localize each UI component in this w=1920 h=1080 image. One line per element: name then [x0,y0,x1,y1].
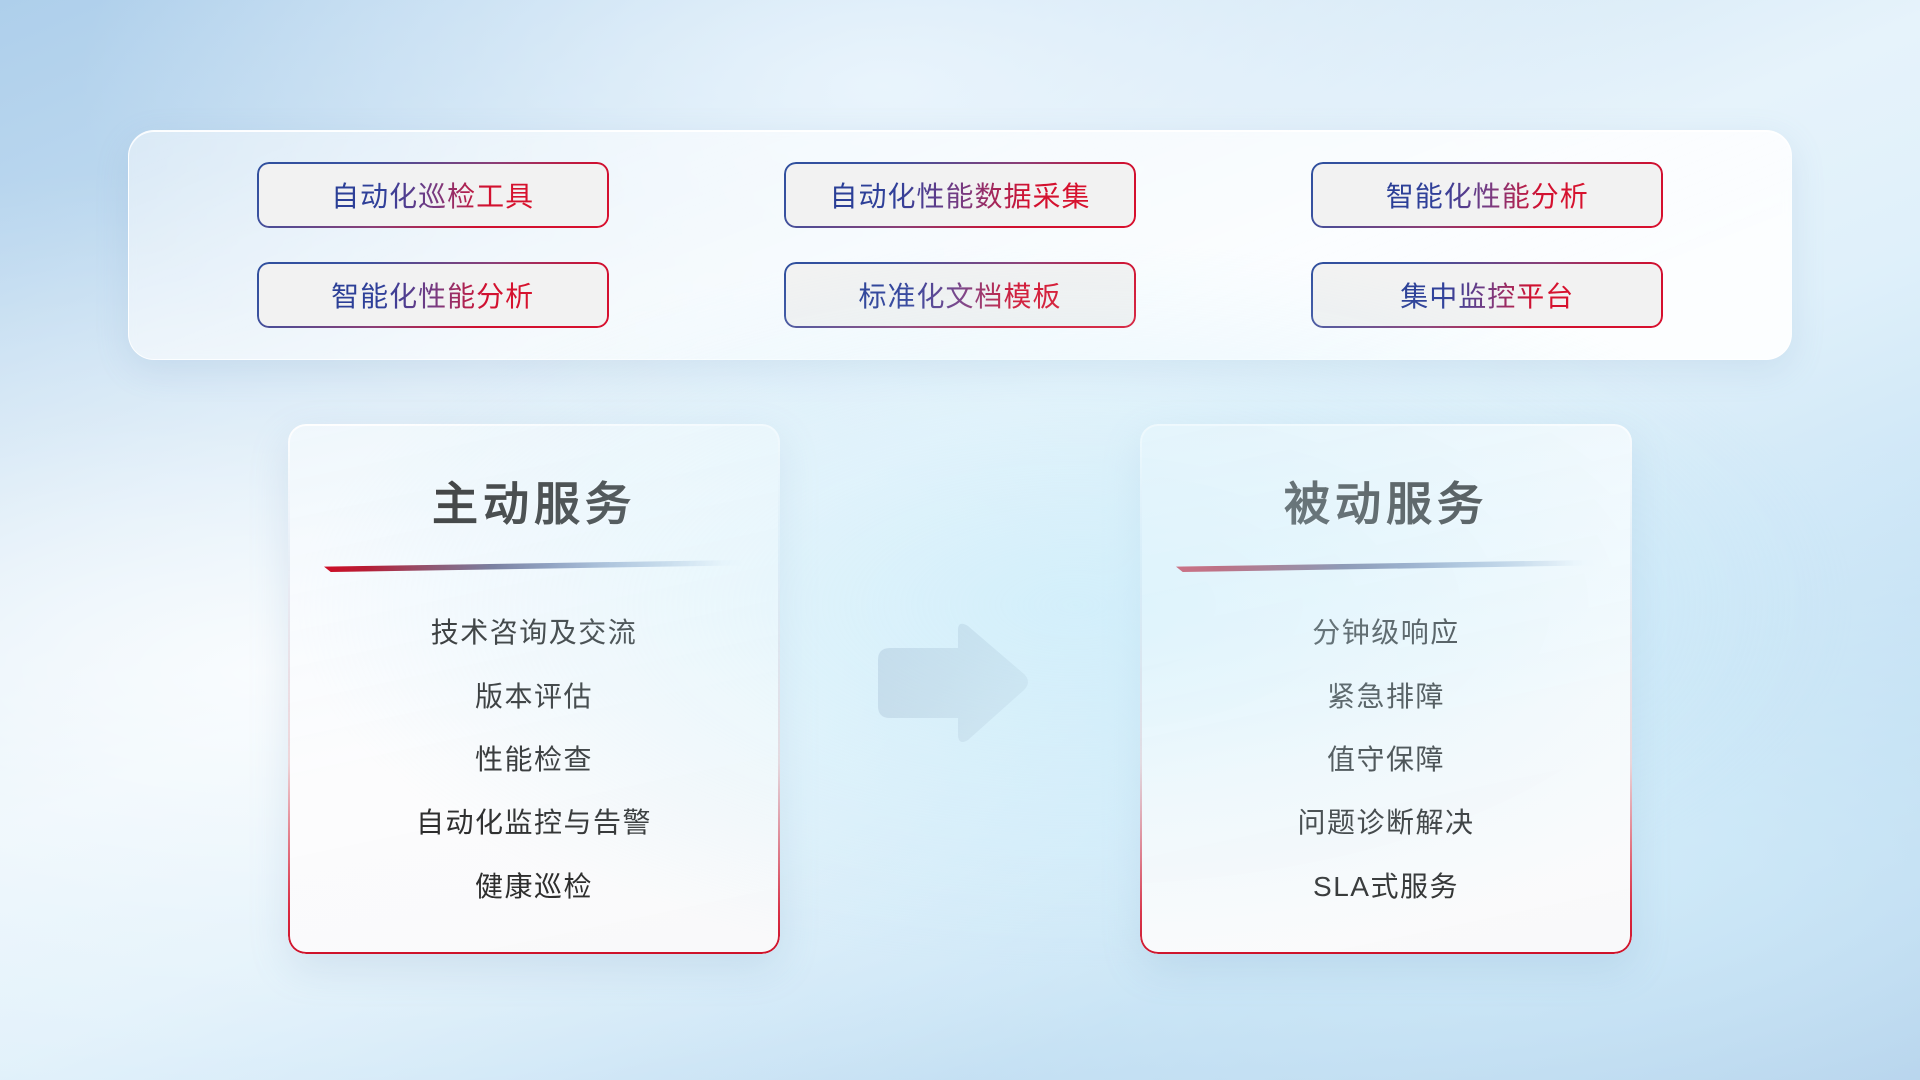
service-card-title: 主动服务 [432,468,636,534]
capability-chip-label: 自动化性能数据采集 [829,175,1090,215]
service-item-list: 分钟级响应 紧急排障 值守保障 问题诊断解决 SLA式服务 [1176,588,1596,928]
service-item: 性能检查 [475,738,593,778]
capability-chip-label: 智能化性能分析 [1386,175,1589,215]
service-item: 自动化监控与告警 [416,801,652,841]
service-item: 版本评估 [475,675,593,715]
service-card-reactive: 被动服务 分钟级响应 紧急排障 值守保障 问题诊断解决 SLA式服务 [1140,424,1632,954]
service-item: 技术咨询及交流 [431,611,638,651]
slide-canvas: 自动化巡检工具 自动化性能数据采集 智能化性能分析 智能化性能分析 标准化文档模… [0,0,1920,1080]
capability-chip-label: 智能化性能分析 [331,275,534,315]
service-item: 分钟级响应 [1312,611,1460,651]
service-card-body: 主动服务 技术咨询及交流 版本评估 性能检查 自动化监控与告警 健康巡检 [288,424,780,954]
service-card-title: 被动服务 [1284,468,1488,534]
capability-chip-5[interactable]: 标准化文档模板 [784,262,1136,328]
service-item: 问题诊断解决 [1297,801,1474,841]
capability-chip-label: 自动化巡检工具 [331,175,534,215]
service-item: 紧急排障 [1327,675,1445,715]
capability-chip-label: 集中监控平台 [1400,275,1574,315]
title-accent-rule [324,560,744,572]
capability-chip-3[interactable]: 智能化性能分析 [1311,162,1663,228]
service-item: 健康巡检 [475,865,593,905]
arrow-right-icon [872,620,1032,748]
title-accent-rule [1176,560,1596,572]
capability-chip-4[interactable]: 智能化性能分析 [257,262,609,328]
service-item: 值守保障 [1327,738,1445,778]
service-item: SLA式服务 [1313,865,1459,905]
service-card-proactive: 主动服务 技术咨询及交流 版本评估 性能检查 自动化监控与告警 健康巡检 [288,424,780,954]
service-item-list: 技术咨询及交流 版本评估 性能检查 自动化监控与告警 健康巡检 [324,588,744,928]
service-card-body: 被动服务 分钟级响应 紧急排障 值守保障 问题诊断解决 SLA式服务 [1140,424,1632,954]
capability-chip-2[interactable]: 自动化性能数据采集 [784,162,1136,228]
capability-chip-6[interactable]: 集中监控平台 [1311,262,1663,328]
capability-chip-label: 标准化文档模板 [858,275,1061,315]
capability-chip-panel: 自动化巡检工具 自动化性能数据采集 智能化性能分析 智能化性能分析 标准化文档模… [128,130,1792,360]
capability-chip-1[interactable]: 自动化巡检工具 [257,162,609,228]
